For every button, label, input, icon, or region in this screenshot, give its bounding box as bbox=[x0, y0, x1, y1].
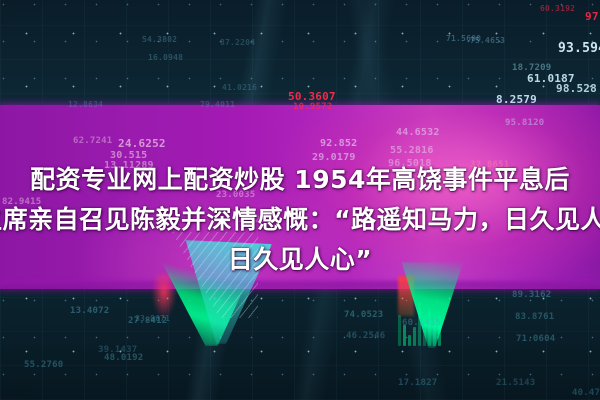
candle-bar bbox=[413, 327, 416, 346]
headline-line-3: 日久见人心” bbox=[0, 240, 600, 280]
candle-bar bbox=[403, 325, 406, 346]
headline-line-1: 配资专业网上配资炒股 1954年高饶事件平息后 bbox=[0, 160, 600, 200]
promo-banner: 93.594297.6661.018798.5288.257950.360710… bbox=[0, 0, 600, 400]
page-title: 配资专业网上配资炒股 1954年高饶事件平息后 毛主席亲自召见陈毅并深情感慨：“… bbox=[0, 160, 600, 280]
headline-line-2: 毛主席亲自召见陈毅并深情感慨：“路遥知马力，日久见人心” bbox=[0, 200, 600, 240]
candle-bar bbox=[398, 315, 401, 346]
band-glow-bottom bbox=[0, 281, 600, 295]
candle-bar bbox=[408, 335, 411, 346]
